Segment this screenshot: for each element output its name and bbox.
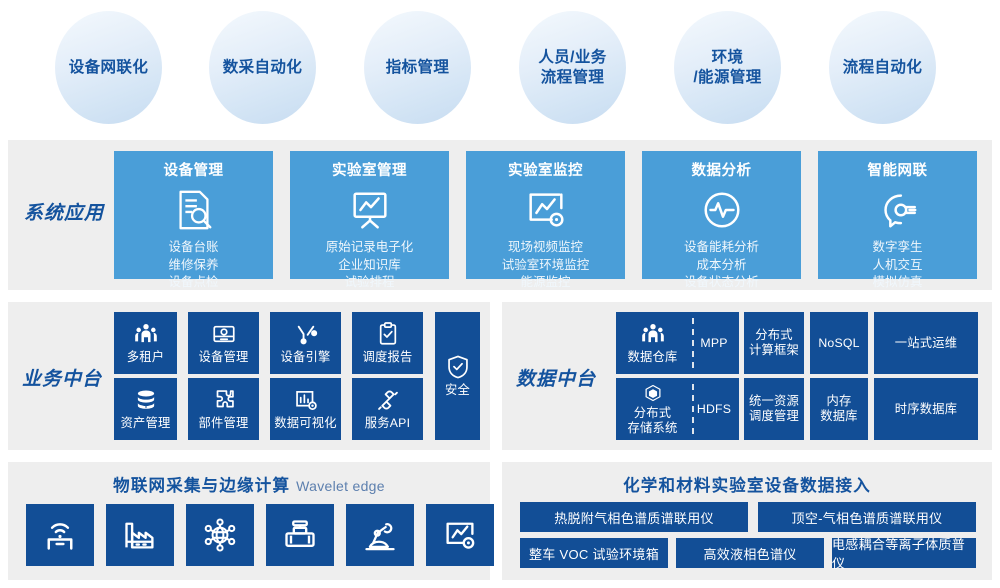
robot-arm-icon <box>362 517 398 553</box>
chem-btn-label: 电感耦合等离子体质普仪 <box>832 534 976 572</box>
sys-card-lines: 数字孪生 人机交互 模拟仿真 <box>818 239 977 291</box>
bubble-label: 人员/业务 流程管理 <box>538 48 606 88</box>
sys-card-intelligent-connectivity[interactable]: 智能网联 数字孪生 人机交互 模拟仿真 <box>818 151 977 279</box>
sys-card-lab-management[interactable]: 实验室管理 原始记录电子化 企业知识库 试验排程 <box>290 151 449 279</box>
data-platform-panel: 数据中台 数据仓库 MPP 分布式 计算框架 NoSQL 一站式运维 <box>502 302 992 450</box>
chem-btn-icp-ms[interactable]: 电感耦合等离子体质普仪 <box>832 538 976 568</box>
biz-tile-device-engine[interactable]: 设备引擎 <box>270 312 341 374</box>
biz-tile-data-visualization[interactable]: 数据可视化 <box>270 378 341 440</box>
monitor-chart-icon <box>442 517 478 553</box>
factory-icon <box>122 517 158 553</box>
iot-edge-title-en: Wavelet edge <box>296 478 385 494</box>
sys-card-lab-monitoring[interactable]: 实验室监控 现场视频监控 试验室环境监控 能源监控 <box>466 151 625 279</box>
biz-tile-component-management[interactable]: 部件管理 <box>188 378 259 440</box>
chem-btn-label: 高效液相色谱仪 <box>703 544 796 563</box>
data-tile-distributed-computing[interactable]: 分布式 计算框架 <box>744 312 804 374</box>
document-search-icon <box>171 187 217 233</box>
sensor-device-icon <box>282 517 318 553</box>
tile-label-line1: 分布式 <box>755 328 793 342</box>
sys-card-title: 实验室监控 <box>466 163 625 180</box>
plug-connect-icon <box>375 387 401 413</box>
chem-btn-hplc[interactable]: 高效液相色谱仪 <box>676 538 824 568</box>
data-tile-distributed-storage[interactable]: 分布式 存储系统 <box>616 383 689 436</box>
tile-label: 分布式 计算框架 <box>749 328 799 358</box>
bubble-label-line1: 环境 <box>712 49 744 66</box>
tile-label: 一站式运维 <box>895 336 958 351</box>
multi-tenant-icon <box>133 321 159 347</box>
sys-card-title: 智能网联 <box>818 163 977 180</box>
iot-tile-factory[interactable] <box>106 504 174 566</box>
chem-btn-vehicle-voc-chamber[interactable]: 整车 VOC 试验环境箱 <box>520 538 668 568</box>
bubble-environment-energy[interactable]: 环境 /能源管理 <box>674 11 781 124</box>
iot-edge-heading: 物联网采集与边缘计算Wavelet edge <box>8 472 490 496</box>
tile-label-line1: 分布式 <box>634 406 672 420</box>
bubble-personnel-process[interactable]: 人员/业务 流程管理 <box>519 11 626 124</box>
tile-label: 调度报告 <box>363 350 413 365</box>
chem-btn-td-gcms[interactable]: 热脱附气相色谱质谱联用仪 <box>520 502 748 532</box>
tile-label: 部件管理 <box>199 416 249 431</box>
iot-edge-panel: 物联网采集与边缘计算Wavelet edge <box>8 462 490 580</box>
puzzle-icon <box>211 387 237 413</box>
bubble-label-line2: /能源管理 <box>693 69 761 86</box>
biz-tile-security[interactable]: 安全 <box>435 312 480 440</box>
chart-board-icon <box>347 187 393 233</box>
sys-card-lines: 设备能耗分析 成本分析 设备状态分析 <box>642 239 801 291</box>
database-coin-icon <box>133 387 159 413</box>
tile-label: 分布式 存储系统 <box>628 406 678 436</box>
biz-tile-asset-management[interactable]: 资产管理 <box>114 378 177 440</box>
ai-head-icon <box>875 187 921 233</box>
sys-card-data-analysis[interactable]: 数据分析 设备能耗分析 成本分析 设备状态分析 <box>642 151 801 279</box>
iot-tile-wifi-gateway[interactable] <box>26 504 94 566</box>
bar-chart-icon <box>293 387 319 413</box>
system-application-title: 系统应用 <box>24 198 104 225</box>
chem-btn-label: 顶空-气相色谱质谱联用仪 <box>792 508 943 527</box>
bubble-data-automation[interactable]: 数采自动化 <box>209 11 316 124</box>
tile-label: 设备引擎 <box>281 350 331 365</box>
chem-btn-headspace-gcms[interactable]: 顶空-气相色谱质谱联用仪 <box>758 502 976 532</box>
tile-label: 内存 数据库 <box>820 394 858 424</box>
biz-tile-scheduling-report[interactable]: 调度报告 <box>352 312 423 374</box>
tile-label-line1: 统一资源 <box>749 394 799 408</box>
tile-label: HDFS <box>689 402 739 417</box>
tile-label: 服务API <box>365 416 410 431</box>
bubble-label: 环境 /能源管理 <box>693 48 761 88</box>
iot-edge-title-zh: 物联网采集与边缘计算 <box>113 477 290 495</box>
data-tile-nosql[interactable]: NoSQL <box>810 312 868 374</box>
business-platform-panel: 业务中台 多租户 设备管理 设备引擎 <box>8 302 490 450</box>
chemical-lab-heading: 化学和材料实验室设备数据接入 <box>502 472 992 496</box>
bubble-label: 数采自动化 <box>223 58 303 78</box>
bubble-label-line1: 人员/业务 <box>538 49 606 66</box>
tile-label-line2: 存储系统 <box>628 421 678 435</box>
tile-label: NoSQL <box>818 336 859 351</box>
data-tile-unified-resource-scheduling[interactable]: 统一资源 调度管理 <box>744 378 804 440</box>
chem-btn-label: 整车 VOC 试验环境箱 <box>529 544 659 563</box>
tile-label: 数据可视化 <box>274 416 337 431</box>
bubble-kpi-management[interactable]: 指标管理 <box>364 11 471 124</box>
tile-label: 统一资源 调度管理 <box>749 394 799 424</box>
tile-label: 数据仓库 <box>628 350 678 365</box>
multi-tenant-icon <box>640 321 666 347</box>
sys-card-title: 数据分析 <box>642 163 801 180</box>
data-tile-mpp[interactable]: MPP <box>689 336 739 351</box>
bubble-label-line2: 流程管理 <box>541 69 605 86</box>
iot-tile-robot-arm[interactable] <box>346 504 414 566</box>
wifi-gateway-icon <box>42 517 78 553</box>
chemical-lab-panel: 化学和材料实验室设备数据接入 热脱附气相色谱质谱联用仪 顶空-气相色谱质谱联用仪… <box>502 462 992 580</box>
tile-label-line1: 内存 <box>827 394 852 408</box>
pulse-circle-icon <box>699 187 745 233</box>
sys-card-title: 实验室管理 <box>290 163 449 180</box>
tile-label-line2: 数据库 <box>820 409 858 423</box>
tile-label: 时序数据库 <box>895 402 958 417</box>
tile-divider <box>692 318 694 368</box>
network-globe-icon <box>202 517 238 553</box>
tile-divider <box>692 384 694 434</box>
chem-btn-label: 热脱附气相色谱质谱联用仪 <box>554 508 714 527</box>
tile-label: 资产管理 <box>121 416 171 431</box>
bubble-label: 指标管理 <box>386 58 450 78</box>
bubble-label: 流程自动化 <box>843 58 923 78</box>
iot-tile-monitoring[interactable] <box>426 504 494 566</box>
biz-tile-multi-tenant[interactable]: 多租户 <box>114 312 177 374</box>
data-tile-storage-hdfs[interactable]: 分布式 存储系统 HDFS <box>616 378 739 440</box>
data-platform-title: 数据中台 <box>516 364 596 391</box>
tile-label: 多租户 <box>127 350 165 365</box>
tile-label: 设备管理 <box>199 350 249 365</box>
cube-layers-icon <box>643 383 663 403</box>
bubble-process-automation[interactable]: 流程自动化 <box>829 11 936 124</box>
tile-label-line2: 调度管理 <box>749 409 799 423</box>
monitor-chart-icon <box>523 187 569 233</box>
bubble-label: 设备网联化 <box>69 58 149 78</box>
data-tile-hdfs[interactable]: HDFS <box>689 402 739 417</box>
sys-card-lines: 原始记录电子化 企业知识库 试验排程 <box>290 239 449 291</box>
tile-label: 安全 <box>445 383 470 398</box>
chemical-lab-title-zh: 化学和材料实验室设备数据接入 <box>623 477 871 495</box>
data-tile-one-stop-ops[interactable]: 一站式运维 <box>874 312 978 374</box>
clipboard-check-icon <box>375 321 401 347</box>
biz-tile-device-management[interactable]: 设备管理 <box>188 312 259 374</box>
sys-card-lines: 设备台账 维修保养 设备点检 <box>114 239 273 291</box>
business-platform-title: 业务中台 <box>22 364 102 391</box>
data-tile-in-memory-db[interactable]: 内存 数据库 <box>810 378 868 440</box>
iot-tile-sensor-device[interactable] <box>266 504 334 566</box>
sys-card-device-management[interactable]: 设备管理 设备台账 维修保养 设备点检 <box>114 151 273 279</box>
system-application-panel: 系统应用 设备管理 设备台账 维修保养 设备点检 实验室管理 原始记录电子化 企… <box>8 140 992 290</box>
biz-tile-service-api[interactable]: 服务API <box>352 378 423 440</box>
sys-card-lines: 现场视频监控 试验室环境监控 能源监控 <box>466 239 625 291</box>
device-box-icon <box>211 321 237 347</box>
node-graph-icon <box>293 321 319 347</box>
data-tile-timeseries-db[interactable]: 时序数据库 <box>874 378 978 440</box>
data-tile-warehouse[interactable]: 数据仓库 <box>616 321 689 365</box>
data-tile-warehouse-mpp[interactable]: 数据仓库 MPP <box>616 312 739 374</box>
bubble-device-networking[interactable]: 设备网联化 <box>55 11 162 124</box>
capability-bubble-row: 设备网联化 数采自动化 指标管理 人员/业务 流程管理 环境 /能源管理 流程自… <box>0 0 1000 135</box>
sys-card-title: 设备管理 <box>114 163 273 180</box>
shield-check-icon <box>445 354 471 380</box>
tile-label-line2: 计算框架 <box>749 343 799 357</box>
iot-tile-network-globe[interactable] <box>186 504 254 566</box>
tile-label: MPP <box>689 336 739 351</box>
